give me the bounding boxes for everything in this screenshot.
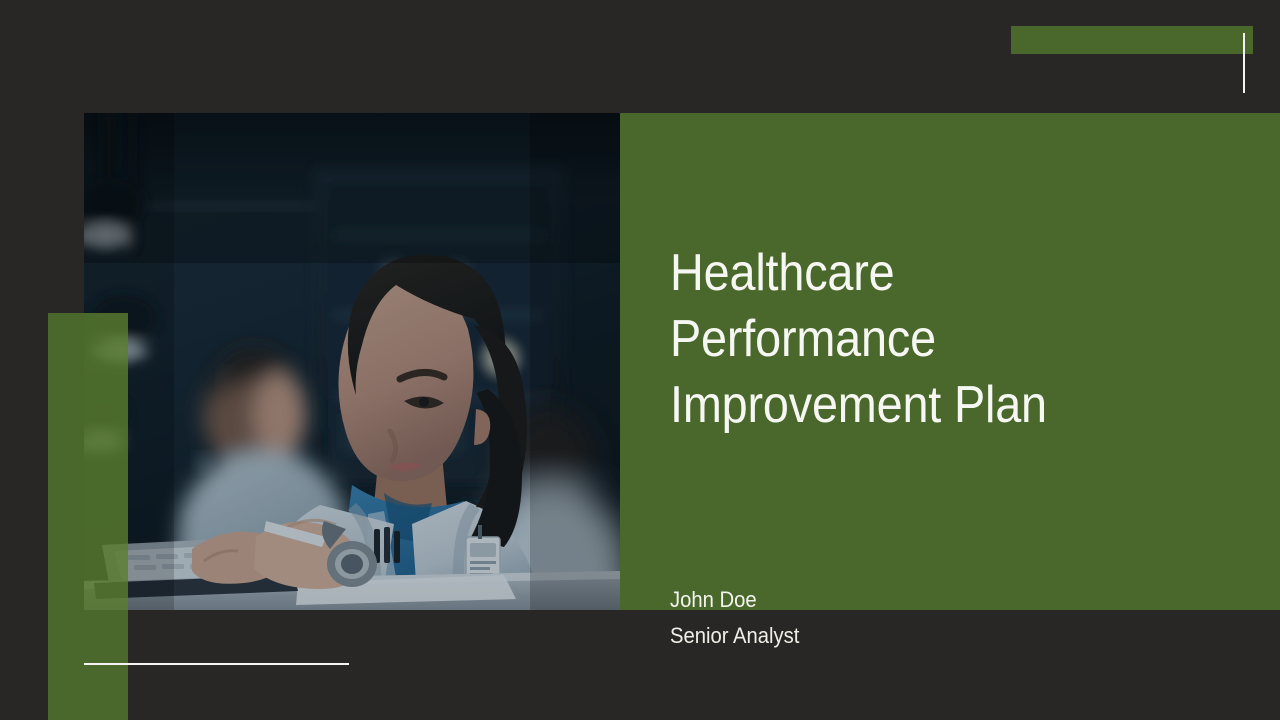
top-right-vertical-rule xyxy=(1243,33,1245,93)
author-role: Senior Analyst xyxy=(670,621,799,651)
author-name: John Doe xyxy=(670,585,757,615)
content-panel: Healthcare Performance Improvement Plan … xyxy=(620,113,1280,610)
cover-photo xyxy=(84,113,620,610)
top-right-accent-bar xyxy=(1011,26,1253,54)
bottom-left-rule xyxy=(84,663,349,665)
content-panel-inner: Healthcare Performance Improvement Plan … xyxy=(670,113,1230,610)
presentation-slide: Healthcare Performance Improvement Plan … xyxy=(0,0,1280,720)
cover-photo-illustration xyxy=(84,113,620,610)
page-title: Healthcare Performance Improvement Plan xyxy=(670,240,1156,438)
left-accent-overlay xyxy=(84,313,128,610)
